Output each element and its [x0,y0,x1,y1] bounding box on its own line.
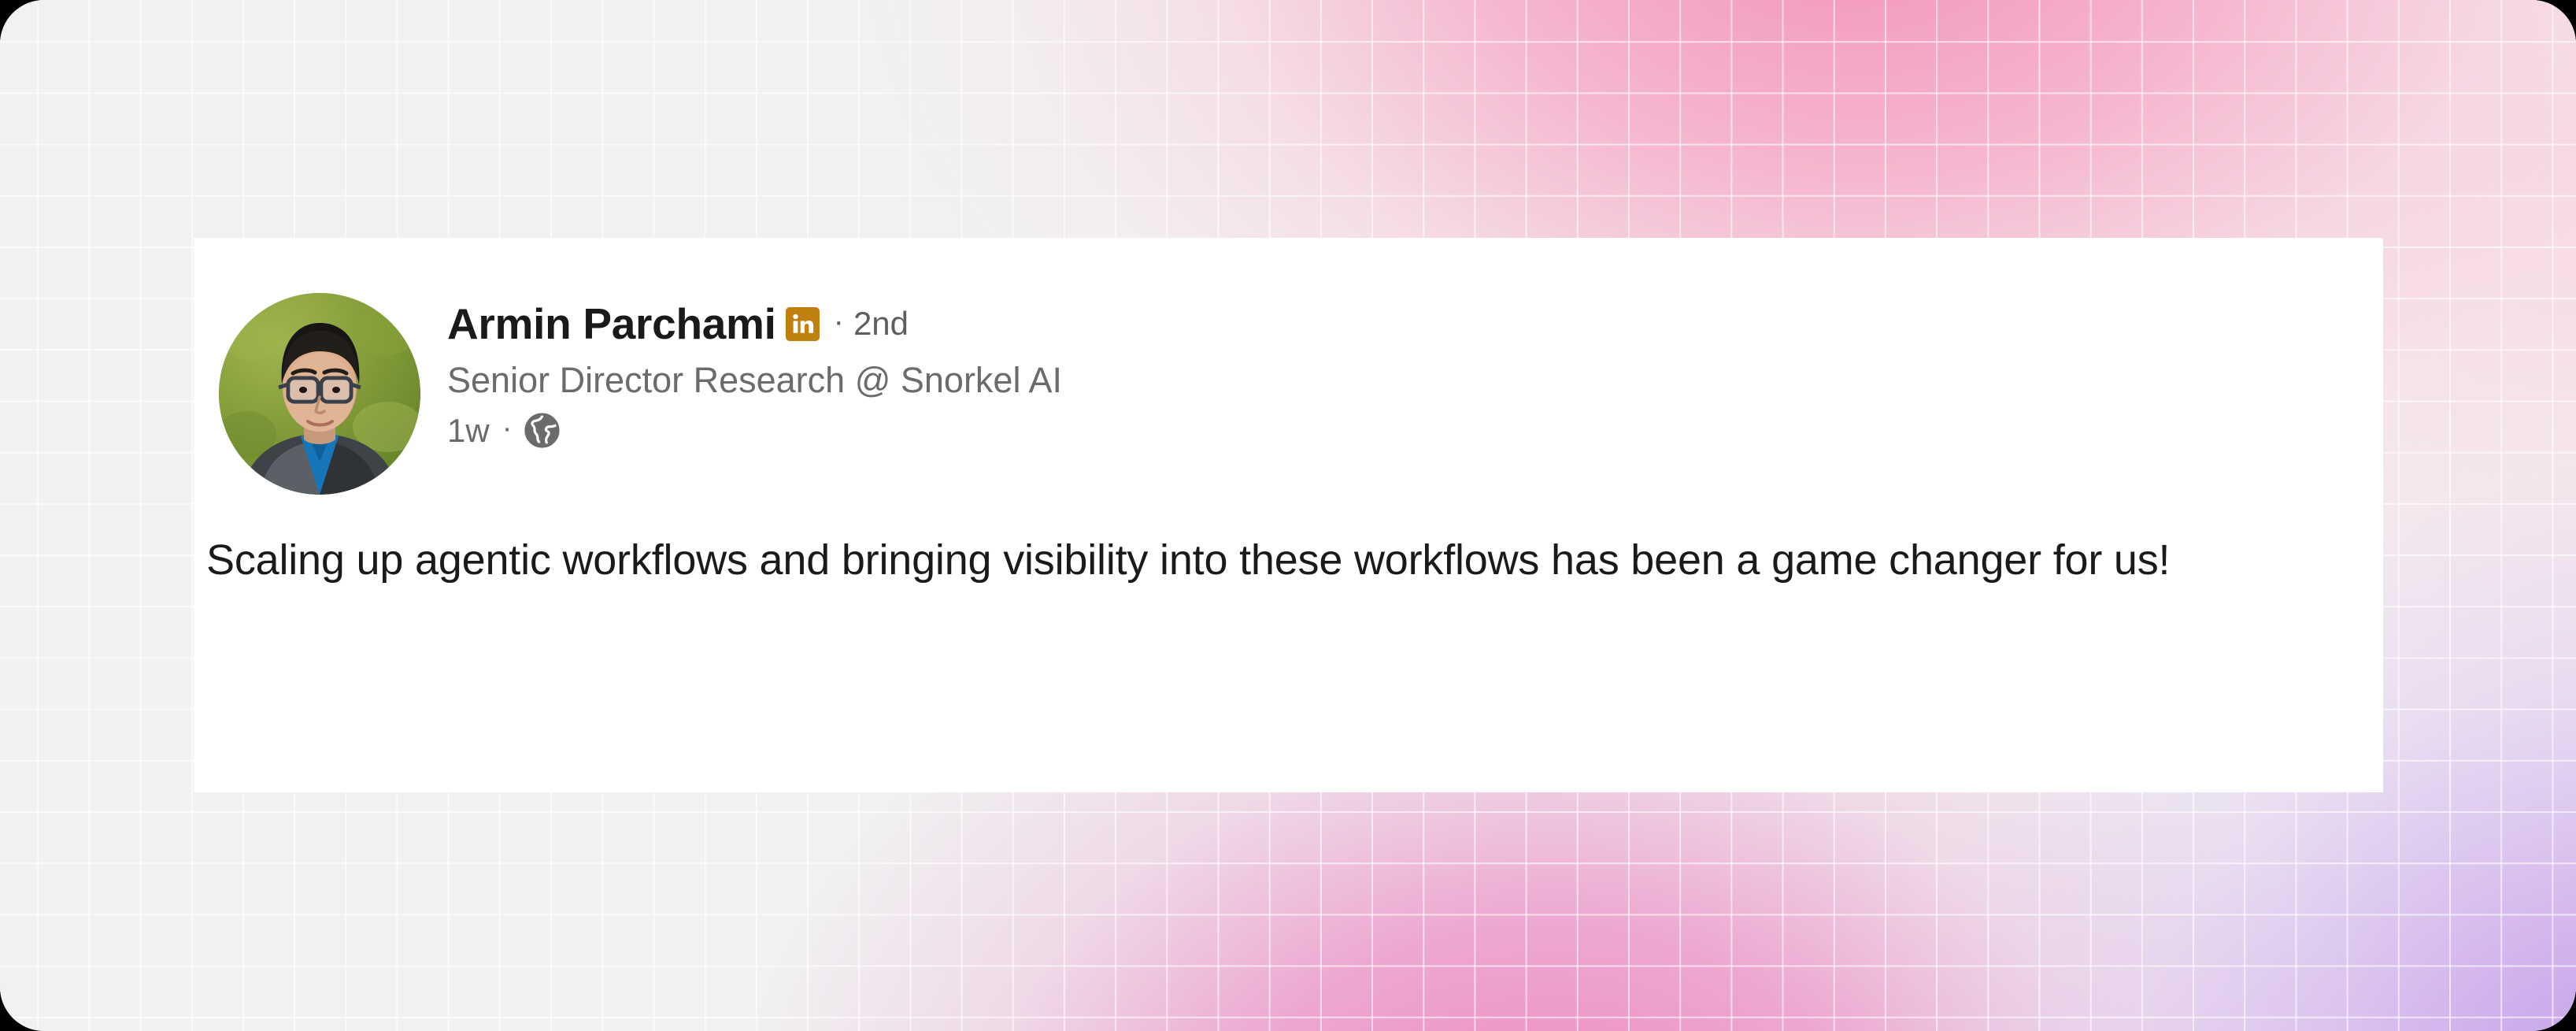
globe-icon [524,413,560,448]
avatar[interactable] [219,293,420,495]
connection-degree: 2nd [853,307,909,340]
post-body: Scaling up agentic workflows and bringin… [206,531,2352,590]
post-header: Armin Parchami · 2nd Senior Director Res… [219,293,1062,495]
author-name[interactable]: Armin Parchami [447,302,776,346]
linkedin-badge-icon [786,307,820,341]
post-body-text: Scaling up agentic workflows and bringin… [206,531,2352,590]
visibility-globe-wrapper [524,413,560,448]
avatar-photo-icon [219,293,420,495]
author-name-row: Armin Parchami · 2nd [447,299,1062,348]
post-meta-row: 1w · [447,413,1062,448]
linkedin-post-card: Armin Parchami · 2nd Senior Director Res… [194,238,2383,792]
author-headline: Senior Director Research @ Snorkel AI [447,361,1062,400]
linkedin-glyph-icon [790,312,814,336]
connection-separator: · [834,306,844,337]
post-timestamp: 1w [447,414,490,447]
header-text-block: Armin Parchami · 2nd Senior Director Res… [447,293,1062,448]
meta-separator: · [502,414,513,443]
screenshot-root: Armin Parchami · 2nd Senior Director Res… [0,0,2576,1031]
